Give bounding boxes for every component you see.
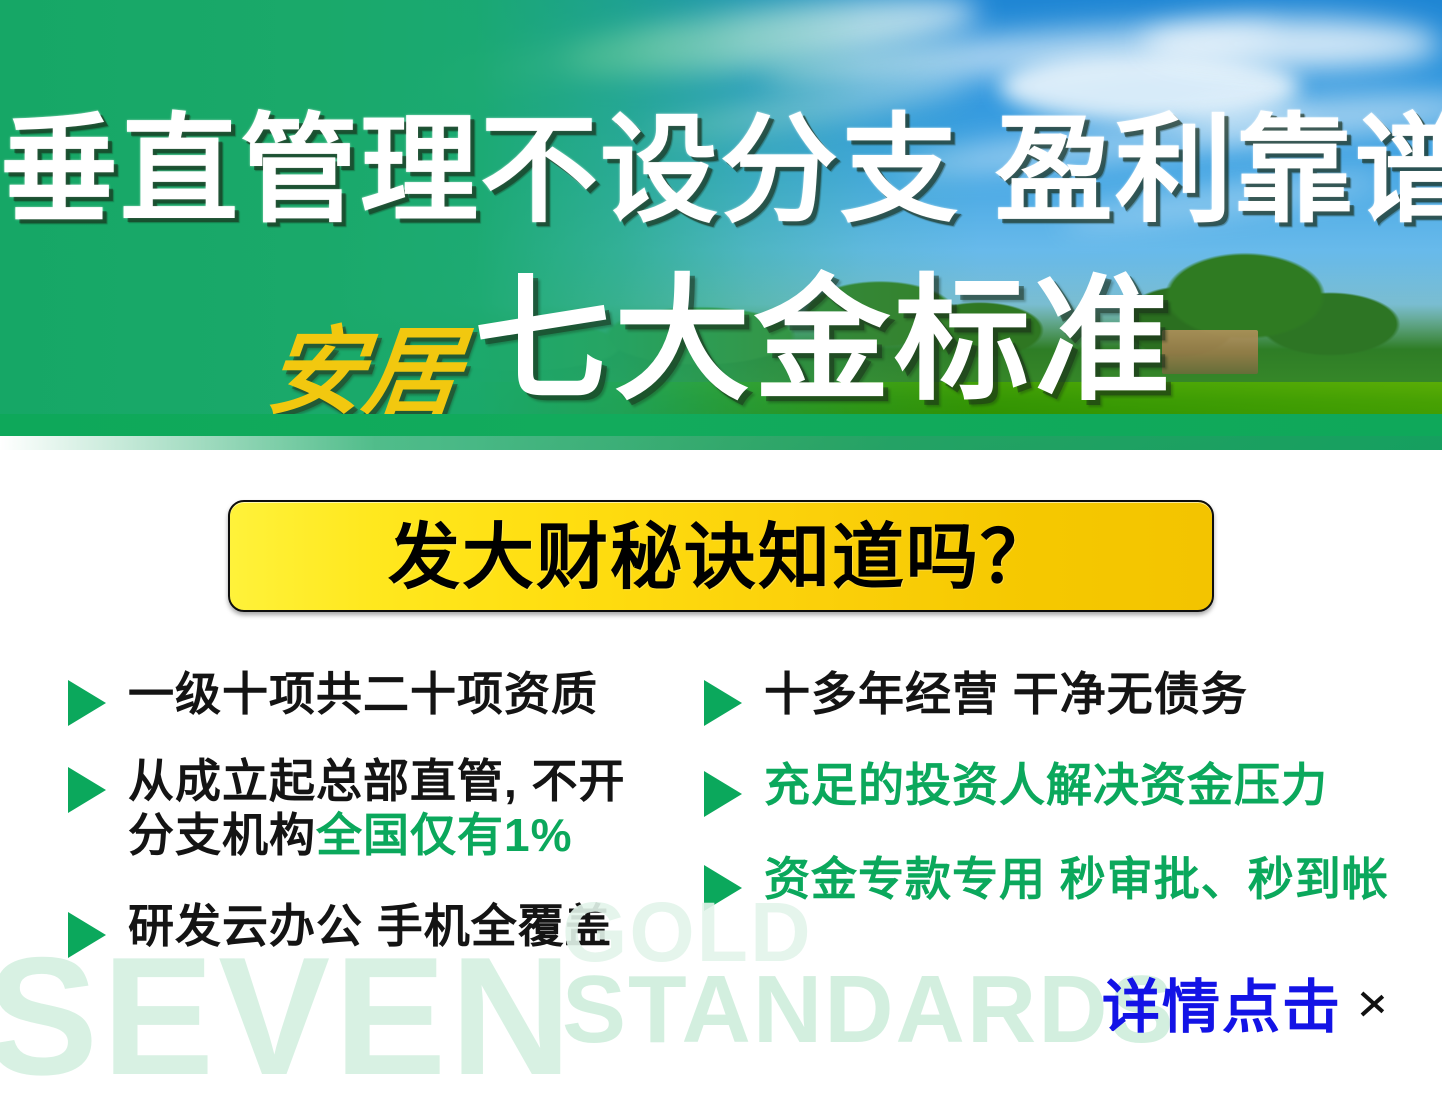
detail-link-label: 详情点击: [1102, 960, 1342, 1044]
green-divider-band: [0, 414, 1442, 436]
triangle-bullet-icon: [704, 865, 742, 911]
feature-text: 一级十项共二十项资质: [128, 668, 682, 721]
chevron-right-icon: [1360, 979, 1386, 1025]
triangle-bullet-icon: [68, 767, 106, 813]
feature-text: 研发云办公 手机全覆盖: [128, 900, 682, 953]
hero-bottom-spacer: [0, 450, 1442, 470]
list-item: 一级十项共二十项资质: [62, 668, 682, 721]
list-item: 研发云办公 手机全覆盖: [62, 900, 682, 953]
feature-column-right: 十多年经营 干净无债务 充足的投资人解决资金压力 资金专款专用 秒审批、秒到帐: [698, 660, 1398, 924]
hero-headline-secondary: 安居七大金标准: [0, 272, 1442, 408]
list-item: 资金专款专用 秒审批、秒到帐: [698, 853, 1398, 906]
list-item: 充足的投资人解决资金压力: [698, 759, 1398, 812]
feature-text: 资金专款专用 秒审批、秒到帐: [764, 853, 1398, 906]
feature-list: 一级十项共二十项资质 从成立起总部直管, 不开 分支机构全国仅有1% 研发云办公…: [0, 660, 1442, 990]
hero-banner: 垂直管理不设分支 盈利靠谱 安居七大金标准: [0, 0, 1442, 470]
hero-headline-primary: 垂直管理不设分支 盈利靠谱: [0, 112, 1442, 230]
triangle-bullet-icon: [704, 771, 742, 817]
feature-text: 从成立起总部直管, 不开 分支机构全国仅有1%: [128, 755, 682, 862]
triangle-bullet-icon: [68, 680, 106, 726]
list-item: 从成立起总部直管, 不开 分支机构全国仅有1%: [62, 755, 682, 862]
feature-column-left: 一级十项共二十项资质 从成立起总部直管, 不开 分支机构全国仅有1% 研发云办公…: [62, 660, 682, 971]
feature-text: 十多年经营 干净无债务: [764, 668, 1398, 721]
green-divider-fade: [0, 436, 1442, 450]
hero-headline-main: 七大金标准: [474, 272, 1174, 408]
triangle-bullet-icon: [704, 680, 742, 726]
cta-banner-button[interactable]: 发大财秘诀知道吗？: [228, 500, 1214, 612]
feature-text-highlight: 全国仅有1%: [316, 809, 572, 861]
triangle-bullet-icon: [68, 912, 106, 958]
feature-text: 充足的投资人解决资金压力: [764, 759, 1398, 812]
detail-link[interactable]: 详情点击: [1102, 960, 1386, 1044]
cta-banner-container: 发大财秘诀知道吗？: [0, 500, 1442, 612]
brand-word: 安居: [263, 325, 465, 421]
list-item: 十多年经营 干净无债务: [698, 668, 1398, 721]
